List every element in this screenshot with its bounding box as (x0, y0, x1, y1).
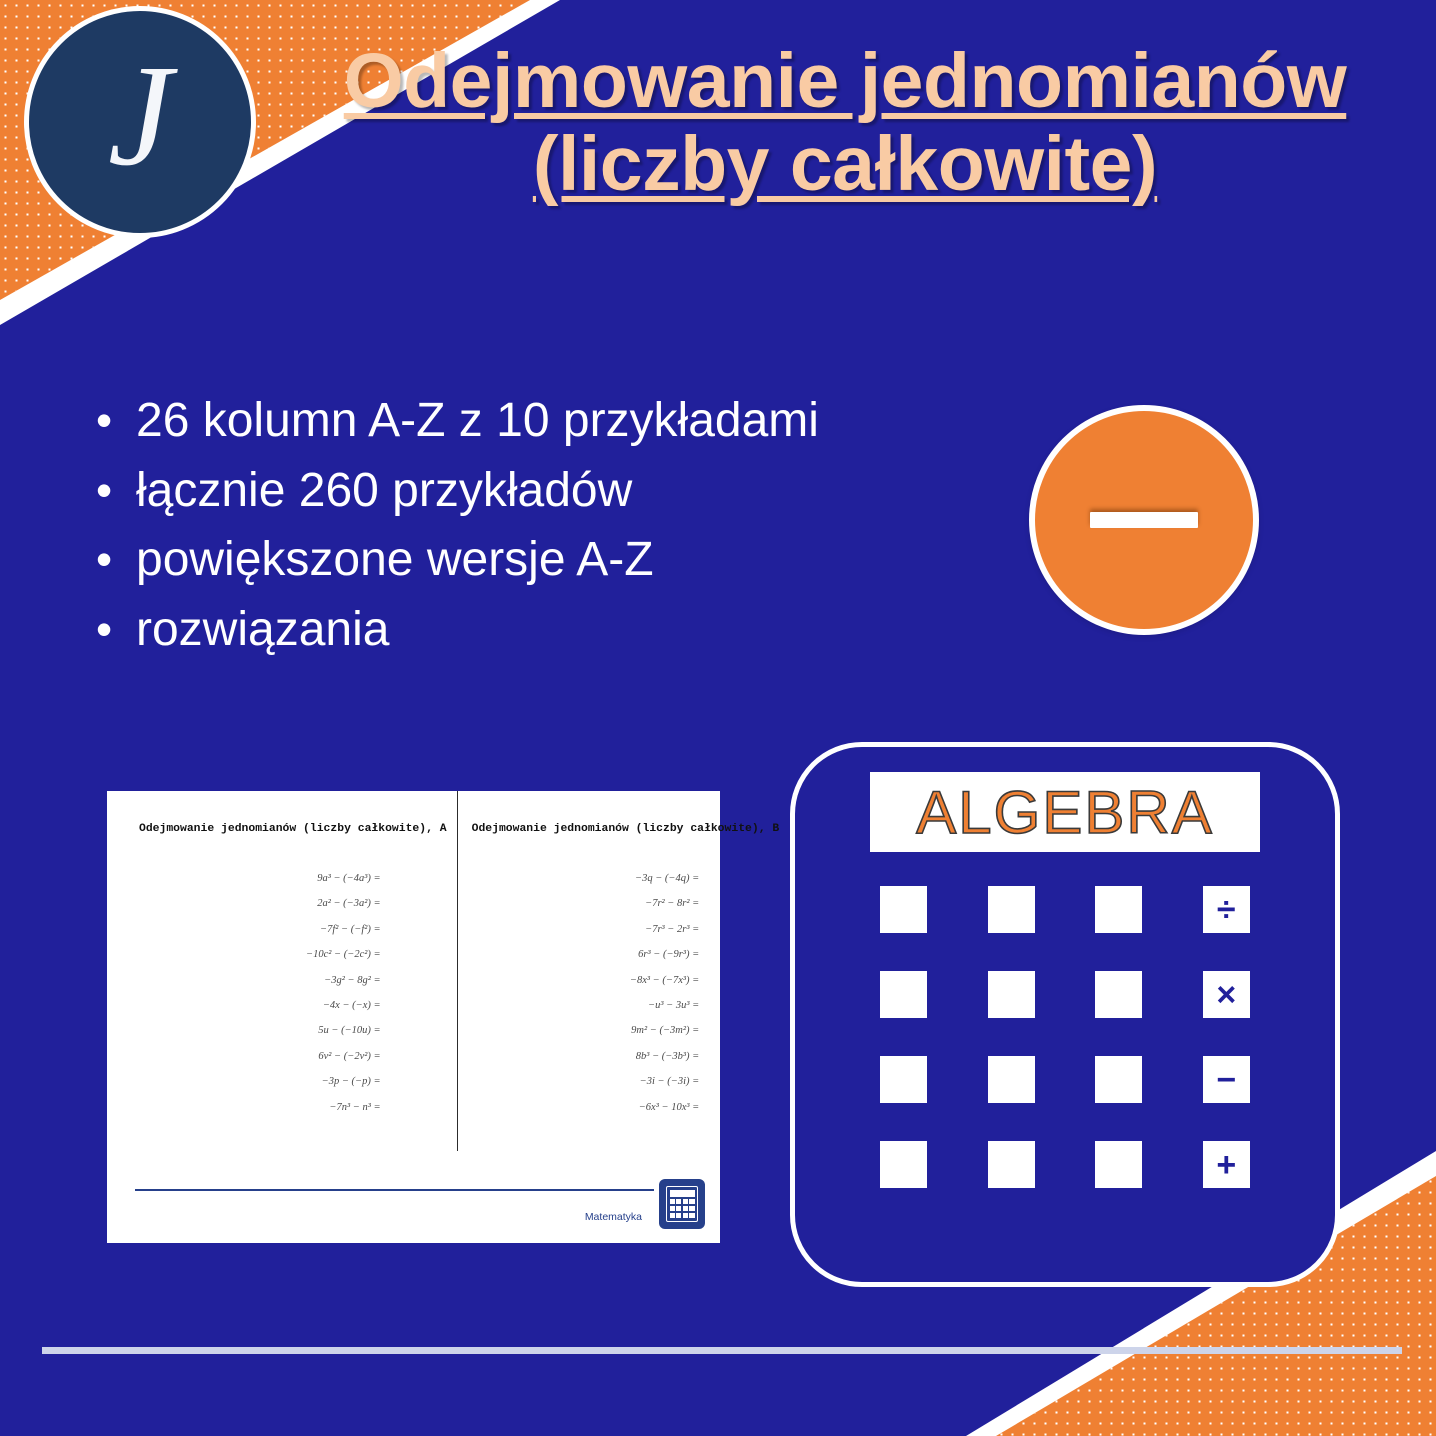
worksheet-exercise: 5u − (−10u) = (139, 1025, 447, 1036)
worksheet-column-b-header: Odejmowanie jednomianów (liczby całkowit… (472, 823, 780, 835)
calculator-icon-screen (670, 1190, 695, 1197)
calculator-key (1095, 971, 1142, 1018)
minus-badge (1029, 405, 1259, 635)
list-item-label: powiększone wersje A-Z (136, 531, 862, 589)
worksheet-exercise: −6x³ − 10x³ = (472, 1102, 780, 1113)
calculator-keypad: ÷ × − + (870, 886, 1260, 1188)
calculator-key (880, 886, 927, 933)
list-item: • powiększone wersje A-Z (72, 531, 862, 589)
calculator-key (988, 971, 1035, 1018)
page-title: Odejmowanie jednomianów (liczby całkowit… (280, 40, 1410, 206)
worksheet-column-a: Odejmowanie jednomianów (liczby całkowit… (107, 791, 457, 1151)
list-item-label: rozwiązania (136, 601, 862, 659)
calculator-key-plus: + (1203, 1141, 1250, 1188)
calculator-key (988, 886, 1035, 933)
calculator-key (1095, 1141, 1142, 1188)
worksheet-exercise: −7f² − (−f²) = (139, 924, 447, 935)
calculator-icon-body (666, 1186, 698, 1222)
worksheet-exercise: −3p − (−p) = (139, 1076, 447, 1087)
title-line-2: (liczby całkowite) (280, 123, 1410, 206)
calculator-icon (659, 1179, 705, 1229)
calculator-key-minus: − (1203, 1056, 1250, 1103)
list-item: • rozwiązania (72, 601, 862, 659)
algebra-calculator-graphic: ALGEBRA ÷ × − + (790, 742, 1340, 1287)
calculator-display-text: ALGEBRA (916, 778, 1213, 847)
worksheet-preview: Odejmowanie jednomianów (liczby całkowit… (107, 791, 720, 1243)
calculator-display: ALGEBRA (870, 772, 1260, 852)
calculator-key (1095, 886, 1142, 933)
bullet-dot-icon: • (72, 601, 136, 657)
calculator-key (880, 971, 927, 1018)
worksheet-exercise: −3i − (−3i) = (472, 1076, 780, 1087)
worksheet-exercise: −3q − (−4q) = (472, 873, 780, 884)
list-item: • 26 kolumn A-Z z 10 przykładami (72, 392, 862, 450)
worksheet-column-b: Odejmowanie jednomianów (liczby całkowit… (457, 791, 790, 1151)
worksheet-column-a-items: 9a³ − (−4a³) = 2a² − (−3a²) = −7f² − (−f… (139, 873, 447, 1113)
worksheet-exercise: 8b³ − (−3b³) = (472, 1051, 780, 1062)
footer-divider (42, 1347, 1402, 1354)
worksheet-exercise: −u³ − 3u³ = (472, 1000, 780, 1011)
worksheet-column-b-items: −3q − (−4q) = −7r² − 8r² = −7r³ − 2r³ = … (472, 873, 780, 1113)
worksheet-exercise: 9a³ − (−4a³) = (139, 873, 447, 884)
worksheet-exercise: −4x − (−x) = (139, 1000, 447, 1011)
bullet-dot-icon: • (72, 462, 136, 518)
worksheet-columns: Odejmowanie jednomianów (liczby całkowit… (107, 791, 720, 1151)
worksheet-exercise: 9m² − (−3m²) = (472, 1025, 780, 1036)
calculator-key (988, 1141, 1035, 1188)
worksheet-column-a-header: Odejmowanie jednomianów (liczby całkowit… (139, 823, 447, 835)
worksheet-exercise: 6v² − (−2v²) = (139, 1051, 447, 1062)
feature-bullet-list: • 26 kolumn A-Z z 10 przykładami • łączn… (72, 392, 862, 670)
worksheet-exercise: −10c² − (−2c²) = (139, 949, 447, 960)
worksheet-footer-rule (135, 1189, 654, 1191)
title-line-1: Odejmowanie jednomianów (344, 38, 1346, 124)
minus-icon (1090, 512, 1198, 528)
slide-canvas: J Odejmowanie jednomianów (liczby całkow… (0, 0, 1436, 1436)
brand-logo: J (24, 6, 256, 238)
logo-letter: J (108, 44, 172, 189)
calculator-key (988, 1056, 1035, 1103)
worksheet-exercise: −7r³ − 2r³ = (472, 924, 780, 935)
calculator-key (1095, 1056, 1142, 1103)
worksheet-exercise: −7n³ − n³ = (139, 1102, 447, 1113)
list-item-label: 26 kolumn A-Z z 10 przykładami (136, 392, 862, 450)
worksheet-exercise: 2a² − (−3a²) = (139, 898, 447, 909)
calculator-key (880, 1056, 927, 1103)
list-item-label: łącznie 260 przykładów (136, 462, 862, 520)
worksheet-footer-label: Matematyka (585, 1211, 642, 1223)
worksheet-exercise: −3g² − 8g² = (139, 975, 447, 986)
calculator-key-multiply: × (1203, 971, 1250, 1018)
worksheet-exercise: 6r³ − (−9r³) = (472, 949, 780, 960)
calculator-icon-keys (670, 1199, 695, 1219)
list-item: • łącznie 260 przykładów (72, 462, 862, 520)
worksheet-exercise: −8x³ − (−7x³) = (472, 975, 780, 986)
bullet-dot-icon: • (72, 531, 136, 587)
calculator-key-divide: ÷ (1203, 886, 1250, 933)
calculator-key (880, 1141, 927, 1188)
worksheet-exercise: −7r² − 8r² = (472, 898, 780, 909)
bullet-dot-icon: • (72, 392, 136, 448)
